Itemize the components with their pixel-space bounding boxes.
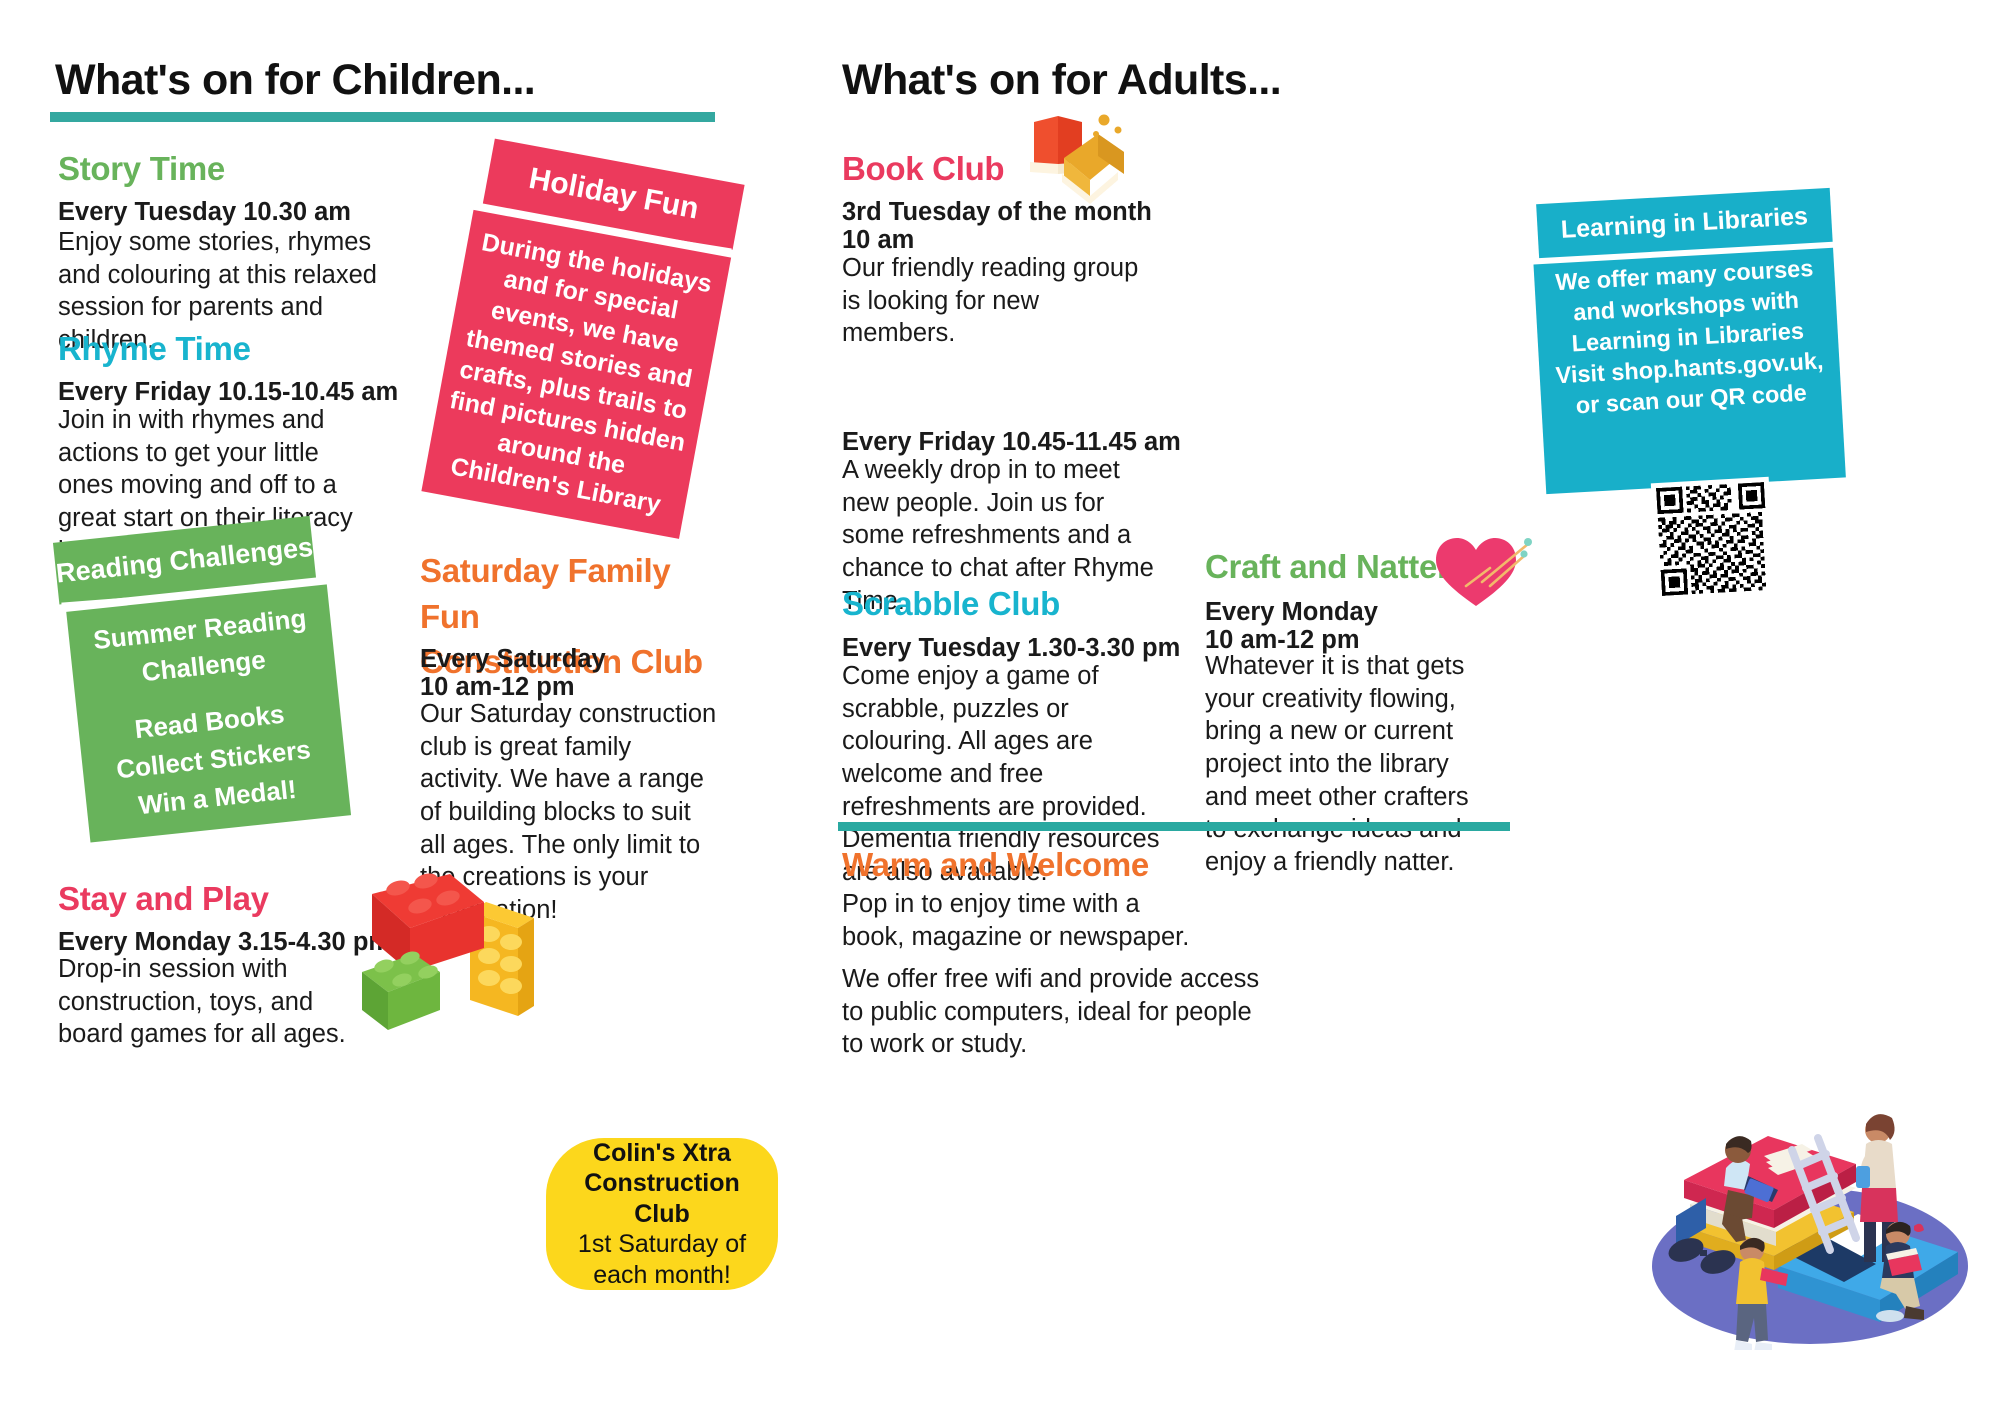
lego-bricks-icon xyxy=(358,868,548,1033)
qr-code-wrapper xyxy=(1651,477,1775,601)
stay-and-play-description: Drop-in session with construction, toys,… xyxy=(58,953,368,1051)
learning-in-libraries-card-text: We offer many courses and workshops with… xyxy=(1540,252,1836,423)
holiday-fun-card-body: During the holidays and for special even… xyxy=(421,210,731,539)
children-title-rule xyxy=(50,112,715,122)
section-heading-scrabble-club: Scrabble Club xyxy=(842,585,1060,623)
section-heading-stay-and-play: Stay and Play xyxy=(58,880,269,918)
section-heading-story-time: Story Time xyxy=(58,150,225,188)
reading-challenges-line-1: Summer Reading Challenge xyxy=(78,598,327,698)
heart-pincushion-icon xyxy=(1432,534,1532,610)
children-column-title: What's on for Children... xyxy=(55,56,535,105)
section-heading-craft-and-natter: Craft and Natter xyxy=(1205,548,1450,586)
section-heading-rhyme-time: Rhyme Time xyxy=(58,330,251,368)
people-reading-books-illustration xyxy=(1640,1070,1980,1350)
adults-column-title: What's on for Adults... xyxy=(842,56,1281,105)
warm-and-welcome-rule xyxy=(838,822,1510,831)
adults-column: What's on for Adults... Book Club 3rd Tu… xyxy=(1000,0,2000,1414)
warm-and-welcome-paragraph-1: Pop in to enjoy time with a book, magazi… xyxy=(842,888,1192,953)
story-time-time: Every Tuesday 10.30 am xyxy=(58,196,398,229)
colin-card-line-2: Construction Club xyxy=(558,1168,766,1229)
warm-and-welcome-paragraph-2: We offer free wifi and provide access to… xyxy=(842,963,1262,1061)
section-heading-warm-and-welcome: Warm and Welcome xyxy=(842,846,1149,884)
book-club-description: Our friendly reading group is looking fo… xyxy=(842,252,1142,350)
reading-challenges-line-2: Read Books Collect Stickers Win a Medal! xyxy=(87,691,339,829)
colin-card-line-3: 1st Saturday of each month! xyxy=(558,1229,766,1290)
colin-card-line-1: Colin's Xtra xyxy=(593,1138,731,1169)
reading-challenges-card-body: Summer Reading Challenge Read Books Coll… xyxy=(66,584,351,842)
poster-canvas: What's on for Children... Story Time Eve… xyxy=(0,0,2000,1414)
open-books-icon xyxy=(1014,112,1139,204)
holiday-fun-card: Holiday Fun During the holidays and for … xyxy=(421,137,744,539)
learning-in-libraries-card-body: We offer many courses and workshops with… xyxy=(1533,248,1845,494)
qr-code-icon xyxy=(1656,482,1770,596)
craft-and-natter-description: Whatever it is that gets your creativity… xyxy=(1205,650,1495,878)
section-heading-book-club: Book Club xyxy=(842,150,1004,188)
saturday-family-fun-heading-line1: Saturday Family Fun xyxy=(420,552,670,635)
reading-challenges-card: Reading Challenges Summer Reading Challe… xyxy=(53,515,351,843)
learning-in-libraries-card: Learning in Libraries We offer many cour… xyxy=(1530,188,1846,494)
colins-xtra-construction-club-card: Colin's Xtra Construction Club 1st Satur… xyxy=(546,1138,778,1290)
